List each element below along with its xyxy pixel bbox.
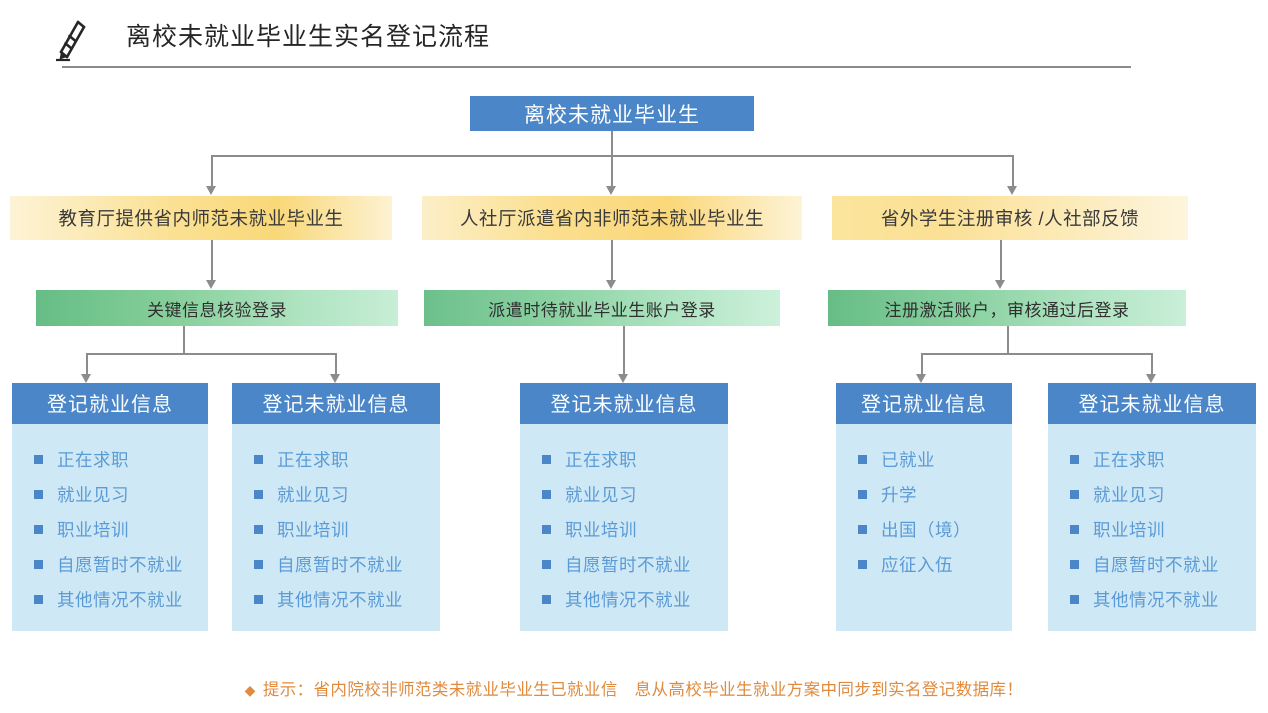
diamond-bullet-icon: ◆ <box>245 682 256 698</box>
action-node-2-label: 派遣时待就业毕业生账户登录 <box>488 296 716 321</box>
bullet-square-icon <box>858 490 867 499</box>
list-item[interactable]: 职业培训 <box>12 512 208 547</box>
list-item-label: 出国（境） <box>881 517 971 542</box>
result-card[interactable]: 登记未就业信息 正在求职 就业见习 职业培训 自愿暂时不就业 其他情况不就业 <box>232 383 440 631</box>
source-node-2[interactable]: 人社厅派遣省内非师范未就业毕业生 <box>422 196 802 240</box>
connector-act3-drop-right <box>1151 353 1153 375</box>
list-item[interactable]: 其他情况不就业 <box>520 582 728 617</box>
connector-root-stem <box>611 131 613 155</box>
connector-src2-act2 <box>611 240 613 281</box>
list-item[interactable]: 应征入伍 <box>836 547 1012 582</box>
bullet-square-icon <box>858 560 867 569</box>
connector-act1-drop-left <box>86 353 88 375</box>
connector-act1-stem <box>183 326 185 353</box>
arrow-act2-card3 <box>618 374 628 383</box>
result-card-title: 登记未就业信息 <box>1048 383 1256 424</box>
list-item[interactable]: 其他情况不就业 <box>1048 582 1256 617</box>
bullet-square-icon <box>542 490 551 499</box>
list-item-label: 自愿暂时不就业 <box>277 552 403 577</box>
connector-act3-stem <box>1007 326 1009 353</box>
arrow-root-2 <box>606 186 616 195</box>
result-card-title: 登记就业信息 <box>12 383 208 424</box>
list-item-label: 职业培训 <box>277 517 349 542</box>
list-item-label: 就业见习 <box>277 482 349 507</box>
bullet-square-icon <box>254 490 263 499</box>
list-item-label: 正在求职 <box>57 447 129 472</box>
list-item-label: 已就业 <box>881 447 935 472</box>
list-item-label: 其他情况不就业 <box>1093 587 1219 612</box>
result-card-title: 登记就业信息 <box>836 383 1012 424</box>
list-item-label: 应征入伍 <box>881 552 953 577</box>
bullet-square-icon <box>858 525 867 534</box>
bullet-square-icon <box>1070 560 1079 569</box>
list-item-label: 其他情况不就业 <box>277 587 403 612</box>
result-card-body: 已就业 升学 出国（境） 应征入伍 <box>836 424 1012 631</box>
arrow-act3-card4 <box>916 374 926 383</box>
result-card[interactable]: 登记未就业信息 正在求职 就业见习 职业培训 自愿暂时不就业 其他情况不就业 <box>520 383 728 631</box>
list-item-label: 职业培训 <box>57 517 129 542</box>
list-item[interactable]: 正在求职 <box>12 442 208 477</box>
result-card-title: 登记未就业信息 <box>232 383 440 424</box>
root-node-label: 离校未就业毕业生 <box>524 99 700 129</box>
bullet-square-icon <box>542 595 551 604</box>
list-item-label: 其他情况不就业 <box>565 587 691 612</box>
connector-act1-bus <box>86 353 336 355</box>
list-item[interactable]: 就业见习 <box>1048 477 1256 512</box>
bullet-square-icon <box>1070 525 1079 534</box>
arrow-act3-card5 <box>1146 374 1156 383</box>
bullet-square-icon <box>1070 455 1079 464</box>
root-node[interactable]: 离校未就业毕业生 <box>470 96 754 131</box>
list-item[interactable]: 正在求职 <box>232 442 440 477</box>
action-node-2[interactable]: 派遣时待就业毕业生账户登录 <box>424 290 780 326</box>
bullet-square-icon <box>254 455 263 464</box>
list-item[interactable]: 就业见习 <box>520 477 728 512</box>
page-title: 离校未就业毕业生实名登记流程 <box>126 17 490 53</box>
list-item[interactable]: 自愿暂时不就业 <box>520 547 728 582</box>
connector-act3-bus <box>921 353 1152 355</box>
list-item-label: 正在求职 <box>565 447 637 472</box>
arrow-act1-card2 <box>330 374 340 383</box>
connector-root-drop-1 <box>211 155 213 187</box>
list-item[interactable]: 其他情况不就业 <box>232 582 440 617</box>
list-item-label: 升学 <box>881 482 917 507</box>
arrow-src2-act2 <box>606 280 616 289</box>
action-node-1[interactable]: 关键信息核验登录 <box>36 290 398 326</box>
result-card-body: 正在求职 就业见习 职业培训 自愿暂时不就业 其他情况不就业 <box>232 424 440 631</box>
source-node-3-label: 省外学生注册审核 /人社部反馈 <box>881 205 1139 231</box>
footer-note-text: 提示：省内院校非师范类未就业毕业生已就业信 息从高校毕业生就业方案中同步到实名登… <box>263 681 1024 699</box>
result-card[interactable]: 登记就业信息 正在求职 就业见习 职业培训 自愿暂时不就业 其他情况不就业 <box>12 383 208 631</box>
footer-note: ◆提示：省内院校非师范类未就业毕业生已就业信 息从高校毕业生就业方案中同步到实名… <box>0 676 1268 700</box>
arrow-act1-card1 <box>81 374 91 383</box>
result-card-body: 正在求职 就业见习 职业培训 自愿暂时不就业 其他情况不就业 <box>12 424 208 631</box>
list-item-label: 就业见习 <box>1093 482 1165 507</box>
bullet-square-icon <box>34 595 43 604</box>
list-item[interactable]: 职业培训 <box>520 512 728 547</box>
bullet-square-icon <box>34 525 43 534</box>
list-item-label: 正在求职 <box>1093 447 1165 472</box>
connector-act1-drop-right <box>335 353 337 375</box>
list-item[interactable]: 其他情况不就业 <box>12 582 208 617</box>
list-item[interactable]: 自愿暂时不就业 <box>232 547 440 582</box>
list-item[interactable]: 正在求职 <box>520 442 728 477</box>
bullet-square-icon <box>254 525 263 534</box>
source-node-1[interactable]: 教育厅提供省内师范未就业毕业生 <box>10 196 392 240</box>
list-item[interactable]: 就业见习 <box>12 477 208 512</box>
list-item[interactable]: 已就业 <box>836 442 1012 477</box>
list-item[interactable]: 职业培训 <box>1048 512 1256 547</box>
pencil-icon <box>48 16 92 64</box>
connector-act3-drop-left <box>921 353 923 375</box>
action-node-1-label: 关键信息核验登录 <box>147 296 287 321</box>
bullet-square-icon <box>1070 595 1079 604</box>
connector-root-drop-2 <box>611 155 613 187</box>
source-node-1-label: 教育厅提供省内师范未就业毕业生 <box>58 205 343 231</box>
connector-root-drop-3 <box>1012 155 1014 187</box>
source-node-3[interactable]: 省外学生注册审核 /人社部反馈 <box>832 196 1188 240</box>
connector-src3-act3 <box>1000 240 1002 281</box>
list-item-label: 自愿暂时不就业 <box>57 552 183 577</box>
arrow-root-1 <box>206 186 216 195</box>
arrow-src3-act3 <box>995 280 1005 289</box>
list-item[interactable]: 职业培训 <box>232 512 440 547</box>
bullet-square-icon <box>254 560 263 569</box>
title-divider <box>62 66 1131 68</box>
result-card-body: 正在求职 就业见习 职业培训 自愿暂时不就业 其他情况不就业 <box>1048 424 1256 631</box>
arrow-src1-act1 <box>206 280 216 289</box>
result-card-title: 登记未就业信息 <box>520 383 728 424</box>
bullet-square-icon <box>858 455 867 464</box>
bullet-square-icon <box>542 525 551 534</box>
list-item-label: 自愿暂时不就业 <box>565 552 691 577</box>
list-item[interactable]: 正在求职 <box>1048 442 1256 477</box>
result-card-body: 正在求职 就业见习 职业培训 自愿暂时不就业 其他情况不就业 <box>520 424 728 631</box>
source-node-2-label: 人社厅派遣省内非师范未就业毕业生 <box>460 205 764 231</box>
list-item-label: 自愿暂时不就业 <box>1093 552 1219 577</box>
flowchart-page: 离校未就业毕业生实名登记流程 离校未就业毕业生 教育厅提供省内师范未就业毕业生 … <box>0 0 1268 713</box>
bullet-square-icon <box>34 455 43 464</box>
list-item-label: 其他情况不就业 <box>57 587 183 612</box>
result-card[interactable]: 登记未就业信息 正在求职 就业见习 职业培训 自愿暂时不就业 其他情况不就业 <box>1048 383 1256 631</box>
list-item-label: 职业培训 <box>565 517 637 542</box>
result-card[interactable]: 登记就业信息 已就业 升学 出国（境） 应征入伍 <box>836 383 1012 631</box>
list-item-label: 就业见习 <box>57 482 129 507</box>
arrow-root-3 <box>1007 186 1017 195</box>
bullet-square-icon <box>34 490 43 499</box>
action-node-3-label: 注册激活账户，审核通过后登录 <box>885 296 1130 321</box>
connector-act2-card3 <box>623 326 625 375</box>
bullet-square-icon <box>254 595 263 604</box>
bullet-square-icon <box>34 560 43 569</box>
list-item[interactable]: 出国（境） <box>836 512 1012 547</box>
list-item[interactable]: 升学 <box>836 477 1012 512</box>
connector-src1-act1 <box>211 240 213 281</box>
bullet-square-icon <box>1070 490 1079 499</box>
list-item[interactable]: 就业见习 <box>232 477 440 512</box>
action-node-3[interactable]: 注册激活账户，审核通过后登录 <box>828 290 1186 326</box>
bullet-square-icon <box>542 455 551 464</box>
list-item[interactable]: 自愿暂时不就业 <box>1048 547 1256 582</box>
list-item[interactable]: 自愿暂时不就业 <box>12 547 208 582</box>
list-item-label: 正在求职 <box>277 447 349 472</box>
list-item-label: 就业见习 <box>565 482 637 507</box>
list-item-label: 职业培训 <box>1093 517 1165 542</box>
bullet-square-icon <box>542 560 551 569</box>
